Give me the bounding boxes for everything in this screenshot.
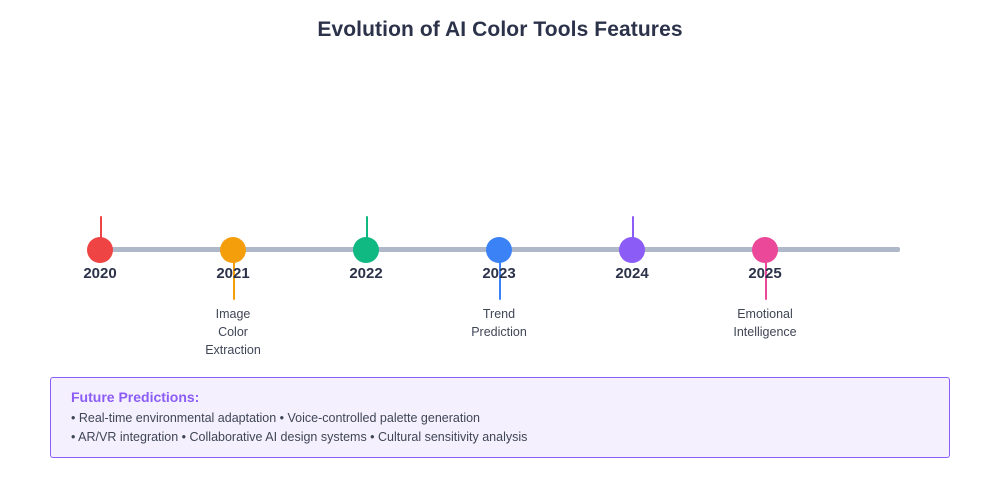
timeline-node-dot[interactable]: [220, 237, 246, 263]
timeline-feature-line: Prediction: [424, 323, 574, 341]
timeline-feature-line: Extraction: [158, 341, 308, 359]
timeline-feature-line: Emotional: [690, 305, 840, 323]
timeline-feature-label: ImageColorExtraction: [158, 305, 308, 359]
timeline-node-dot[interactable]: [752, 237, 778, 263]
timeline-node-dot[interactable]: [619, 237, 645, 263]
future-predictions-title: Future Predictions:: [71, 389, 929, 405]
timeline-year-label: 2025: [685, 265, 845, 282]
page-title: Evolution of AI Color Tools Features: [0, 18, 1000, 42]
timeline-chart: Evolution of AI Color Tools Features 202…: [0, 0, 1000, 500]
timeline-feature-line: Trend: [424, 305, 574, 323]
timeline-node-dot[interactable]: [353, 237, 379, 263]
timeline-feature-label: TrendPrediction: [424, 305, 574, 341]
timeline-feature-line: Intelligence: [690, 323, 840, 341]
future-predictions-line: • AR/VR integration • Collaborative AI d…: [71, 428, 929, 447]
timeline-feature-line: Color: [158, 323, 308, 341]
future-predictions-line: • Real-time environmental adaptation • V…: [71, 409, 929, 428]
timeline-node-dot[interactable]: [87, 237, 113, 263]
timeline-node-dot[interactable]: [486, 237, 512, 263]
timeline-feature-line: Image: [158, 305, 308, 323]
timeline-feature-label: EmotionalIntelligence: [690, 305, 840, 341]
future-predictions-box: Future Predictions: • Real-time environm…: [50, 377, 950, 458]
